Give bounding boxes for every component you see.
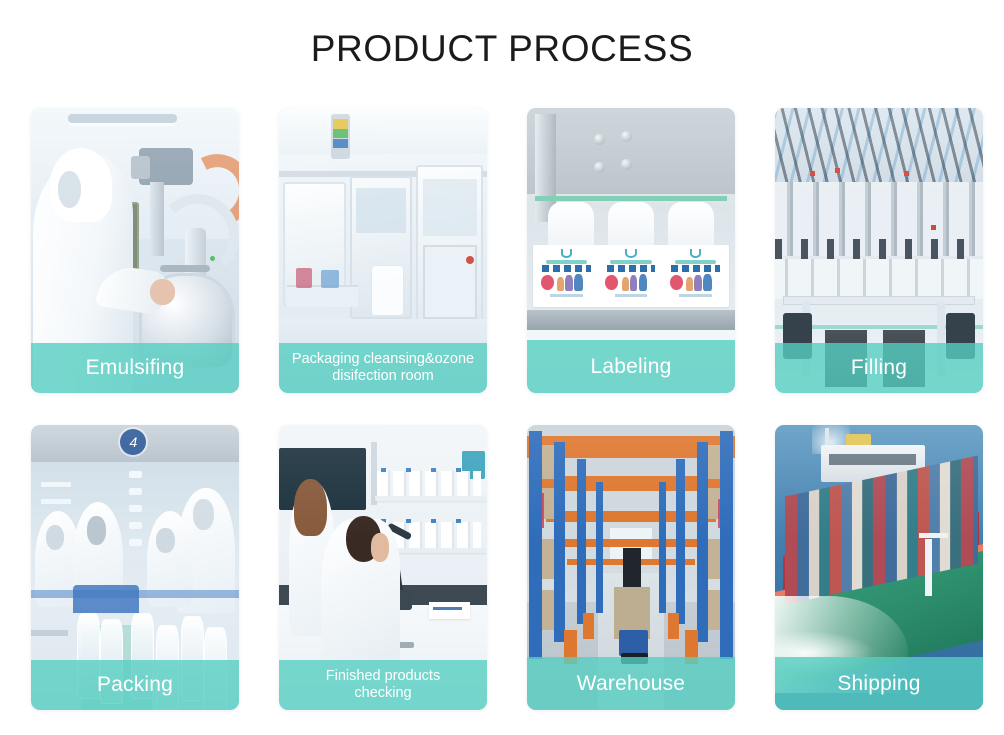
- card-label: Packaging cleansing&ozone disifection ro…: [292, 351, 474, 385]
- card-caption: Packaging cleansing&ozone disifection ro…: [279, 343, 487, 393]
- process-card-shipping[interactable]: Shipping: [775, 425, 983, 710]
- card-label: Filling: [851, 356, 907, 380]
- card-label: Warehouse: [577, 672, 685, 696]
- card-caption: Finished products checking: [279, 660, 487, 710]
- process-card-packing[interactable]: Packing: [31, 425, 239, 710]
- page-title: PRODUCT PROCESS: [0, 26, 1004, 72]
- card-caption: Filling: [775, 343, 983, 393]
- card-label: Packing: [97, 673, 173, 697]
- card-caption: Emulsifing: [31, 343, 239, 393]
- process-card-packaging-cleansing-ozone-disifection-room[interactable]: Packaging cleansing&ozone disifection ro…: [279, 108, 487, 393]
- station-number-badge: [120, 429, 146, 455]
- card-label: Emulsifing: [86, 356, 185, 380]
- process-card-grid: Emulsifing Packaging cleansing&ozone dis…: [31, 108, 983, 710]
- card-caption: Shipping: [775, 657, 983, 710]
- card-caption: Packing: [31, 660, 239, 710]
- process-card-finished-products-checking[interactable]: Finished products checking: [279, 425, 487, 710]
- process-card-filling[interactable]: Filling: [775, 108, 983, 393]
- card-label: Labeling: [590, 355, 671, 379]
- card-caption: Warehouse: [527, 657, 735, 710]
- card-label: Finished products checking: [326, 668, 440, 702]
- card-caption: Labeling: [527, 340, 735, 393]
- product-process-page: PRODUCT PROCESS Emulsifing: [0, 0, 1004, 735]
- process-card-labeling[interactable]: Labeling: [527, 108, 735, 393]
- process-card-emulsifing[interactable]: Emulsifing: [31, 108, 239, 393]
- process-card-warehouse[interactable]: Warehouse: [527, 425, 735, 710]
- card-label: Shipping: [837, 672, 920, 696]
